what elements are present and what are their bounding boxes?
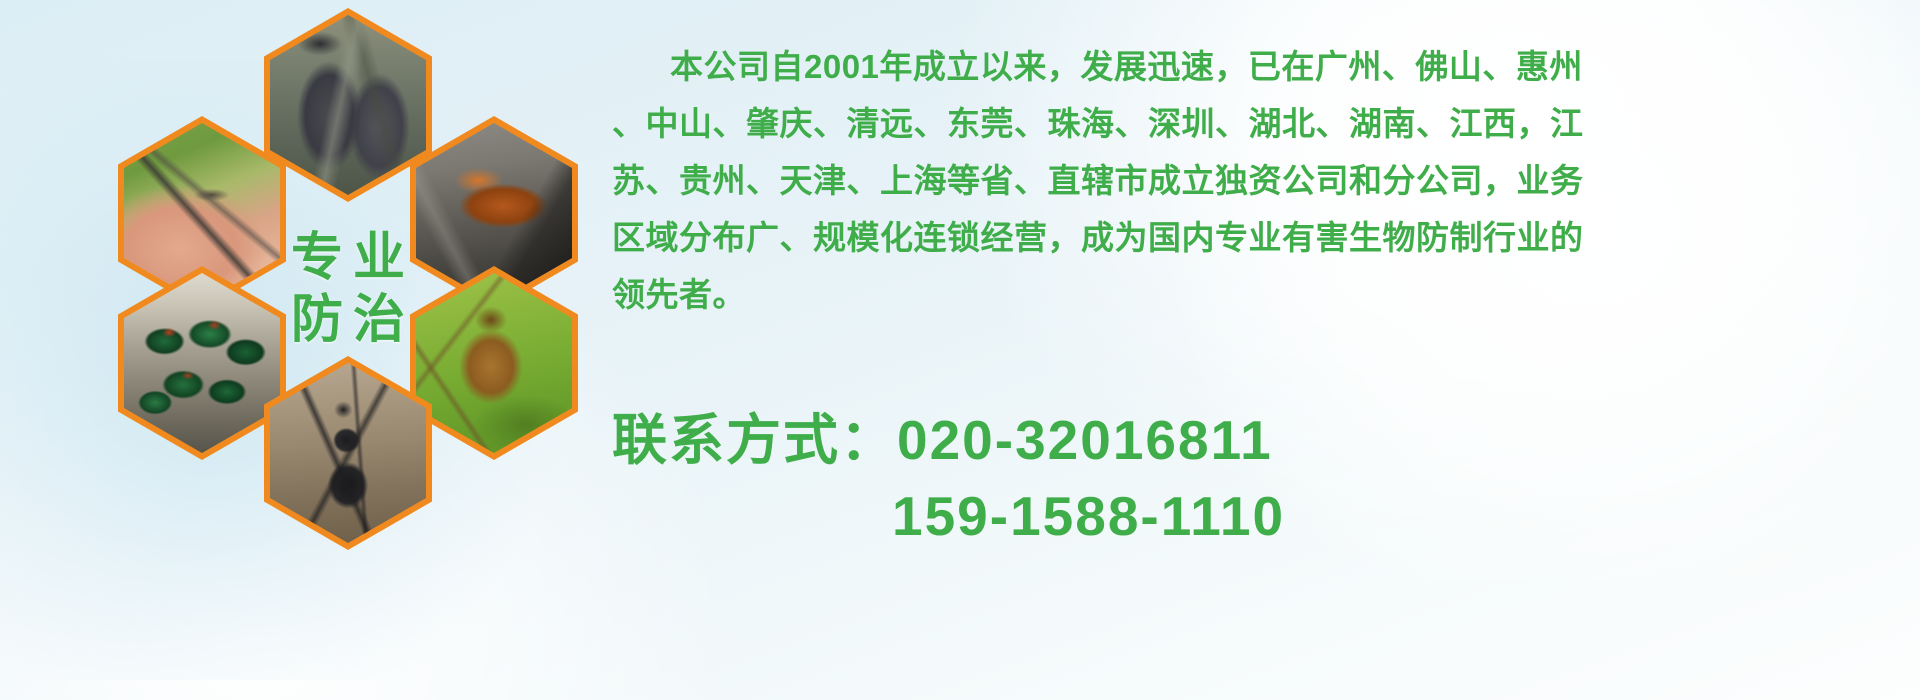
description-line-4: 区域分布广、规模化连锁经营，成为国内专业有害生物防制行业的 bbox=[612, 209, 1912, 266]
hexagon-cell-flies[interactable] bbox=[118, 266, 286, 460]
slogan-overlay: 专业 防治 bbox=[264, 196, 432, 382]
ant-photo-icon bbox=[270, 363, 426, 543]
promo-banner: 专业 防治 本公司自2001年成立以来，发展迅速，已在广州、佛山、惠州 、中山、… bbox=[0, 0, 1920, 700]
contact-line-landline[interactable]: 联系方式：020-32016811 bbox=[612, 402, 1912, 478]
hexagon-pest-cluster: 专业 防治 bbox=[88, 8, 588, 568]
hexagon-cell-stinkbug[interactable] bbox=[410, 266, 578, 460]
description-line-5: 领先者。 bbox=[612, 266, 1912, 323]
contact-line-mobile[interactable]: 159-1588-1110 bbox=[612, 478, 1912, 554]
description-line-1: 本公司自2001年成立以来，发展迅速，已在广州、佛山、惠州 bbox=[612, 38, 1912, 95]
description-line-2: 、中山、肇庆、清远、东莞、珠海、深圳、湖北、湖南、江西，江 bbox=[612, 95, 1912, 152]
hexagon-cell-ant[interactable] bbox=[264, 356, 432, 550]
slogan-line-2: 防治 bbox=[281, 292, 415, 348]
slogan-line-1: 专业 bbox=[281, 230, 415, 286]
stinkbug-photo-icon bbox=[416, 273, 572, 453]
description-line-3: 苏、贵州、天津、上海等省、直辖市成立独资公司和分公司，业务 bbox=[612, 152, 1912, 209]
contact-info: 联系方式：020-32016811 159-1588-1110 bbox=[612, 402, 1912, 554]
company-description: 本公司自2001年成立以来，发展迅速，已在广州、佛山、惠州 、中山、肇庆、清远、… bbox=[612, 38, 1912, 323]
hexagon-cell-rat[interactable] bbox=[264, 8, 432, 202]
flies-photo-icon bbox=[124, 273, 280, 453]
rat-photo-icon bbox=[270, 15, 426, 195]
